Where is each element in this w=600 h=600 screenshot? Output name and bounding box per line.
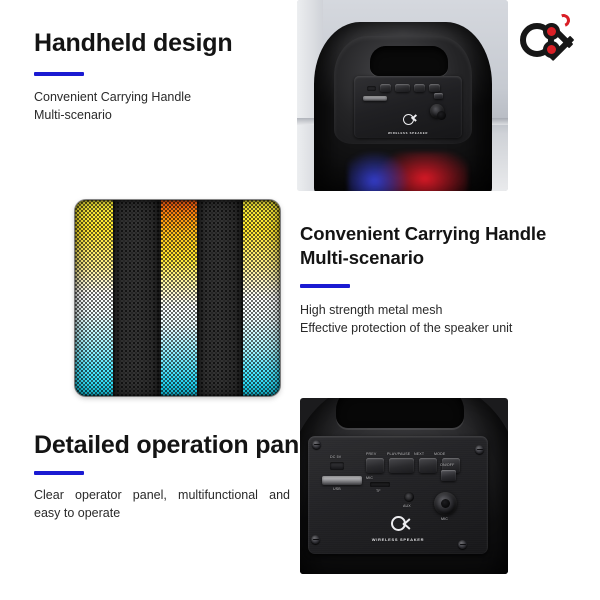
panel-button-next [414,84,425,92]
panel-button-prev [366,458,384,473]
panel-label-onoff: ON/OFF [440,463,454,467]
panel-screw-tr [475,445,484,454]
handheld-design-block: Handheld design Convenient Carrying Hand… [34,30,232,124]
panel-headline: Detailed operation panel [34,432,290,460]
panel-button-play [389,458,414,473]
accent-bar-panel [34,471,84,475]
panel-screw-bl [311,535,320,544]
panel-label-tf: TF [376,489,381,493]
led-strip-left [75,200,117,396]
panel-label-next: NEXT [414,452,424,456]
panel-label-dc: DC 5V [330,455,341,459]
control-panel-small: WIRELESS SPEAKER [354,76,462,138]
carrying-handle-closeup [336,398,464,428]
mesh-band-right [197,200,243,396]
led-strip-right [241,200,280,396]
speaker-body: WIRELESS SPEAKER [314,22,492,191]
led-strip-center [159,200,199,396]
speaker-top-face: WIRELESS SPEAKER [334,36,472,144]
panel-ok-logo [391,516,406,536]
ok-logo [520,14,582,62]
panel-onoff-switch [441,470,456,481]
led-mesh-photo [75,200,280,396]
panel-aux-jack [404,492,414,502]
panel-button-prev [380,84,391,92]
panel-screw-tl [312,440,321,449]
panel-onoff-switch [434,93,443,99]
handle-body-line-1: High strength metal mesh [300,301,546,319]
handheld-headline: Handheld design [34,30,232,58]
panel-label-prev: PREV [366,452,376,456]
logo-dot-lower [543,41,560,58]
panel-wordmark: WIRELESS SPEAKER [360,537,436,542]
handle-subhead-line-1: Convenient Carrying Handle [300,222,546,246]
panel-body-line-1: Clear operator panel, multifunctional an… [34,486,290,505]
operation-panel-block: Detailed operation panel Clear operator … [34,432,290,523]
panel-label-play: PLAY/PAUSE [387,452,410,456]
speaker-body-closeup: PREV PLAY/PAUSE NEXT MODE DC 5V USB MIC … [300,398,508,574]
led-light-layer [75,200,280,396]
control-panel: PREV PLAY/PAUSE NEXT MODE DC 5V USB MIC … [308,436,488,554]
panel-label-mic-jack: MIC [441,517,448,521]
panel-body-line-2: easy to operate [34,504,290,523]
panel-ok-logo [403,112,414,130]
panel-body: Clear operator panel, multifunctional an… [34,486,290,524]
carrying-handle [370,46,448,76]
panel-usb-slot [363,96,387,101]
accent-bar-handle [300,284,350,288]
logo-dot-upper [543,23,560,40]
panel-wordmark: WIRELESS SPEAKER [384,131,432,135]
control-panel-photo: PREV PLAY/PAUSE NEXT MODE DC 5V USB MIC … [300,398,508,574]
handheld-body-line-1: Convenient Carrying Handle [34,88,232,106]
panel-button-next [419,458,437,473]
panel-screw-br [458,540,467,549]
panel-label-aux: AUX [403,504,411,508]
panel-button-play [395,84,410,92]
panel-label-mode: MODE [434,452,445,456]
panel-mic-jack [434,492,457,515]
handheld-body-line-2: Multi-scenario [34,106,232,124]
accent-bar-handheld [34,72,84,76]
panel-dc-port [330,462,344,470]
handle-subhead-line-2: Multi-scenario [300,246,546,270]
panel-brand-mark: WIRELESS SPEAKER [384,112,432,135]
panel-mic-jack [430,104,444,118]
carrying-handle-block: Convenient Carrying Handle Multi-scenari… [300,222,546,338]
handle-body-line-2: Effective protection of the speaker unit [300,319,546,337]
panel-dc-port [367,86,376,91]
panel-usb-slot [322,476,362,485]
panel-brand-mark: WIRELESS SPEAKER [360,516,436,542]
panel-tf-slot [370,482,390,487]
panel-label-usb: USB [333,487,341,491]
mesh-band-left [113,200,161,396]
speaker-handle-photo: WIRELESS SPEAKER [297,0,508,191]
product-infographic: Handheld design Convenient Carrying Hand… [0,0,600,600]
panel-label-mic-slot: MIC [366,476,373,480]
panel-button-mode [429,84,440,92]
led-light-glow [348,152,468,191]
